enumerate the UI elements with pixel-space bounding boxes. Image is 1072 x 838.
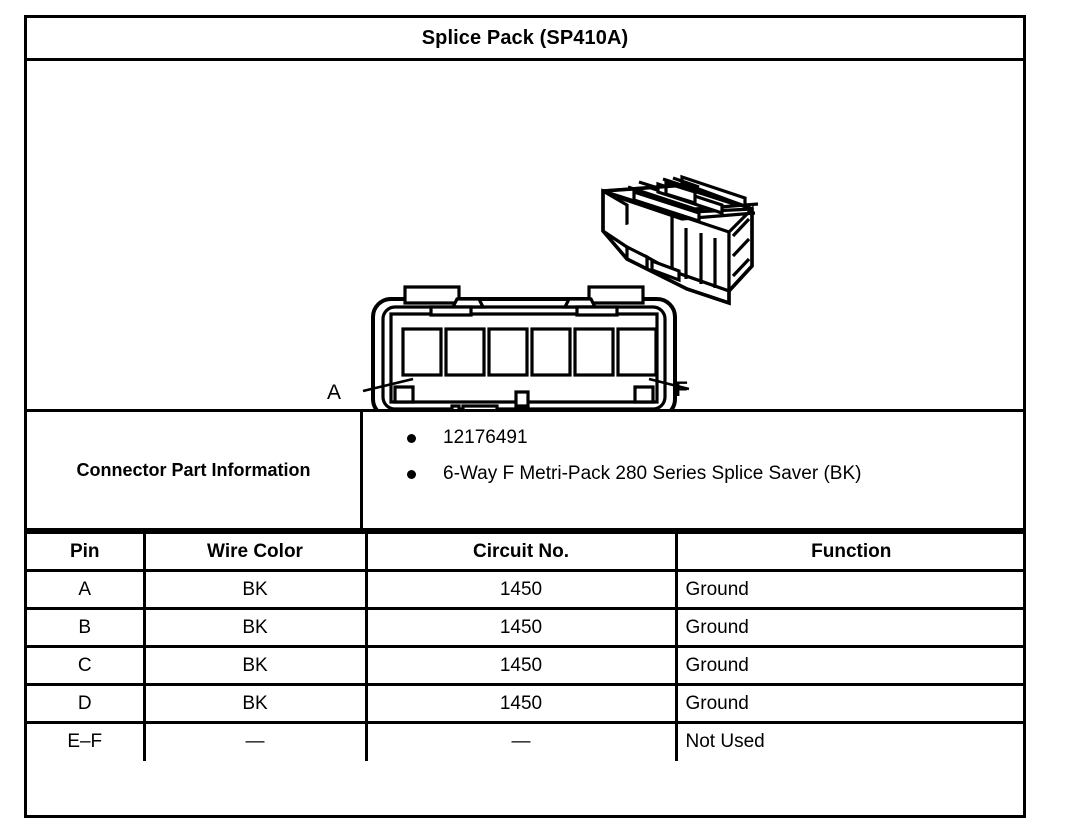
cell-wire-color: BK xyxy=(144,685,366,723)
list-item: 6-Way F Metri-Pack 280 Series Splice Sav… xyxy=(363,462,1023,486)
column-header-wire-color: Wire Color xyxy=(144,533,366,571)
cell-function: Ground xyxy=(676,571,1023,609)
cell-function: Ground xyxy=(676,685,1023,723)
connector-figure: A F xyxy=(27,61,1023,412)
connector-part-information-row: Connector Part Information 12176491 6-Wa… xyxy=(27,412,1023,531)
cell-pin: C xyxy=(27,647,144,685)
connector-part-information-label: Connector Part Information xyxy=(27,412,363,528)
column-header-pin: Pin xyxy=(27,533,144,571)
cell-pin: A xyxy=(27,571,144,609)
bullet-icon xyxy=(407,470,416,479)
cell-function: Ground xyxy=(676,647,1023,685)
cell-wire-color: BK xyxy=(144,647,366,685)
connector-part-information-list: 12176491 6-Way F Metri-Pack 280 Series S… xyxy=(363,412,1023,528)
page-title: Splice Pack (SP410A) xyxy=(422,27,629,50)
cell-wire-color: BK xyxy=(144,571,366,609)
isometric-connector-view xyxy=(603,177,758,303)
pin-table: Pin Wire Color Circuit No. Function A BK… xyxy=(27,531,1023,761)
cell-wire-color: — xyxy=(144,723,366,761)
cell-function: Not Used xyxy=(676,723,1023,761)
column-header-function: Function xyxy=(676,533,1023,571)
cell-pin: B xyxy=(27,609,144,647)
bullet-icon xyxy=(407,434,416,443)
connector-drawing: A F xyxy=(27,61,1023,409)
column-header-circuit-no: Circuit No. xyxy=(366,533,676,571)
table-header-row: Pin Wire Color Circuit No. Function xyxy=(27,533,1023,571)
callout-label-f: F xyxy=(675,378,688,401)
cell-wire-color: BK xyxy=(144,609,366,647)
connector-end-view-document: Splice Pack (SP410A) xyxy=(0,0,1072,838)
document-frame: Splice Pack (SP410A) xyxy=(24,15,1026,818)
cell-function: Ground xyxy=(676,609,1023,647)
cell-pin: D xyxy=(27,685,144,723)
cell-circuit-no: 1450 xyxy=(366,571,676,609)
table-row: C BK 1450 Ground xyxy=(27,647,1023,685)
cell-circuit-no: 1450 xyxy=(366,609,676,647)
table-row: A BK 1450 Ground xyxy=(27,571,1023,609)
cell-circuit-no: 1450 xyxy=(366,685,676,723)
cell-circuit-no: — xyxy=(366,723,676,761)
cell-pin: E–F xyxy=(27,723,144,761)
front-face-view xyxy=(373,287,675,409)
part-number: 12176491 xyxy=(443,426,528,450)
list-item: 12176491 xyxy=(363,426,1023,450)
callout-label-a: A xyxy=(327,381,341,404)
table-row: E–F — — Not Used xyxy=(27,723,1023,761)
table-row: D BK 1450 Ground xyxy=(27,685,1023,723)
table-row: B BK 1450 Ground xyxy=(27,609,1023,647)
part-description: 6-Way F Metri-Pack 280 Series Splice Sav… xyxy=(443,462,861,486)
cell-circuit-no: 1450 xyxy=(366,647,676,685)
title-row: Splice Pack (SP410A) xyxy=(27,18,1023,61)
